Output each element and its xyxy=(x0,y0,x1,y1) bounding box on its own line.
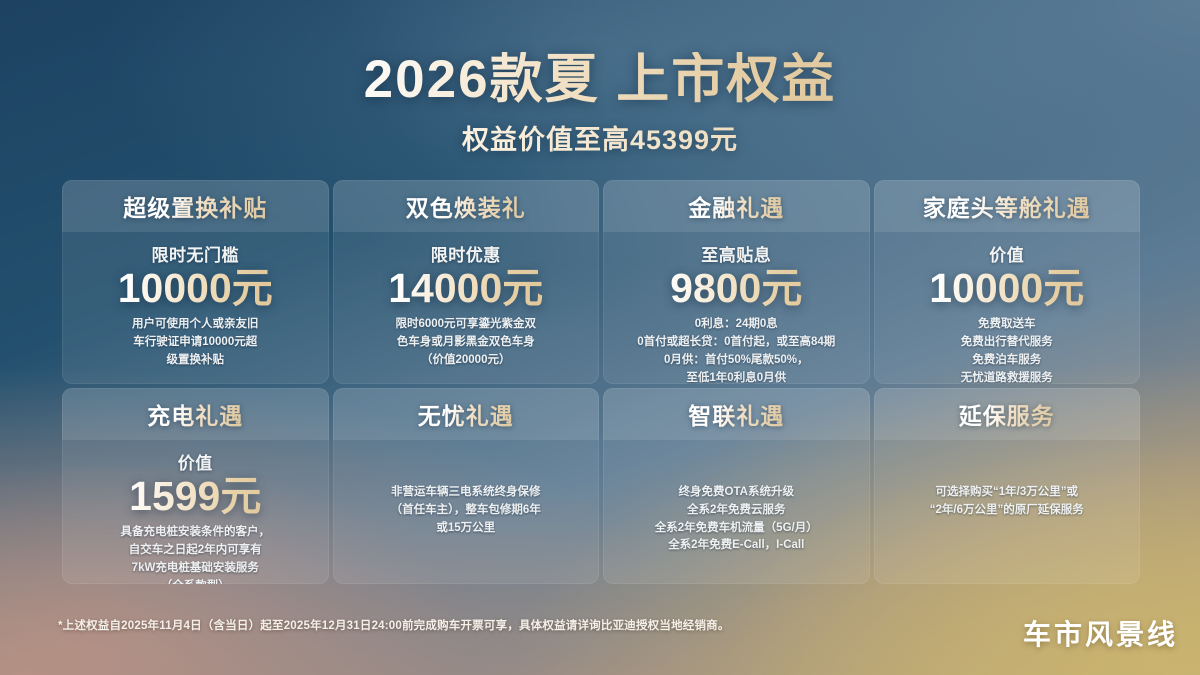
card-amount: 1599元 xyxy=(72,472,319,520)
card-body: 可选择购买“1年/3万公里”或 “2年/6万公里”的原厂延保服务 xyxy=(874,440,1141,520)
card-header: 家庭头等舱礼遇 xyxy=(874,180,1141,232)
benefit-card-family-first-class[interactable]: 家庭头等舱礼遇 价值 10000元 免费取送车 免费出行替代服务 免费泊车服务 … xyxy=(874,180,1141,384)
card-lead: 价值 xyxy=(884,241,1131,266)
card-body: 非营运车辆三电系统终身保修 （首任车主），整车包修期6年 或15万公里 xyxy=(333,440,600,537)
card-title: 充电礼遇 xyxy=(147,397,243,431)
card-description: 非营运车辆三电系统终身保修 （首任车主），整车包修期6年 或15万公里 xyxy=(343,484,590,537)
benefit-card-connectivity[interactable]: 智联礼遇 终身免费OTA系统升级 全系2年免费云服务 全系2年免费车机流量（5G… xyxy=(603,388,870,584)
card-title: 金融礼遇 xyxy=(688,189,784,223)
benefits-grid: 超级置换补贴 限时无门槛 10000元 用户可使用个人或亲友旧 车行驶证申请10… xyxy=(62,180,1140,584)
title-block: 2026款夏 上市权益 权益价值至高45399元 xyxy=(0,52,1200,157)
promo-poster: 2026款夏 上市权益 权益价值至高45399元 超级置换补贴 限时无门槛 10… xyxy=(0,0,1200,675)
card-description: 可选择购买“1年/3万公里”或 “2年/6万公里”的原厂延保服务 xyxy=(884,484,1131,520)
card-body: 限时无门槛 10000元 用户可使用个人或亲友旧 车行驶证申请10000元超 级… xyxy=(62,232,329,370)
card-body: 价值 10000元 免费取送车 免费出行替代服务 免费泊车服务 无忧道路救援服务 xyxy=(874,232,1141,384)
card-amount: 14000元 xyxy=(343,264,590,312)
card-description: 用户可使用个人或亲友旧 车行驶证申请10000元超 级置换补贴 xyxy=(72,316,319,369)
card-lead: 价值 xyxy=(72,449,319,474)
watermark-logo: 车市风景线 xyxy=(1023,613,1178,653)
card-title: 智联礼遇 xyxy=(688,397,784,431)
card-description: 限时6000元可享鎏光紫金双 色车身或月影黑金双色车身 （价值20000元） xyxy=(343,316,590,369)
card-header: 金融礼遇 xyxy=(603,180,870,232)
card-description: 终身免费OTA系统升级 全系2年免费云服务 全系2年免费车机流量（5G/月） 全… xyxy=(613,484,860,555)
card-body: 限时优惠 14000元 限时6000元可享鎏光紫金双 色车身或月影黑金双色车身 … xyxy=(333,232,600,370)
benefit-card-two-tone-paint[interactable]: 双色焕装礼 限时优惠 14000元 限时6000元可享鎏光紫金双 色车身或月影黑… xyxy=(333,180,600,384)
card-header: 超级置换补贴 xyxy=(62,180,329,232)
footnote-disclaimer: *上述权益自2025年11月4日（含当日）起至2025年12月31日24:00前… xyxy=(58,617,938,633)
card-title: 超级置换补贴 xyxy=(123,189,267,223)
benefit-card-financing[interactable]: 金融礼遇 至高贴息 9800元 0利息：24期0息 0首付或超长贷：0首付起，或… xyxy=(603,180,870,384)
card-lead: 限时无门槛 xyxy=(72,241,319,266)
card-amount: 10000元 xyxy=(72,264,319,312)
card-header: 双色焕装礼 xyxy=(333,180,600,232)
page-subtitle: 权益价值至高45399元 xyxy=(0,118,1200,157)
card-description: 0利息：24期0息 0首付或超长贷：0首付起，或至高84期 0月供：首付50%尾… xyxy=(613,316,860,384)
card-title: 延保服务 xyxy=(959,397,1055,431)
card-title: 双色焕装礼 xyxy=(406,189,526,223)
card-amount: 10000元 xyxy=(884,264,1131,312)
card-header: 延保服务 xyxy=(874,388,1141,440)
card-description: 免费取送车 免费出行替代服务 免费泊车服务 无忧道路救援服务 xyxy=(884,316,1131,384)
card-amount: 9800元 xyxy=(613,264,860,312)
benefits-row-2: 充电礼遇 价值 1599元 具备充电桩安装条件的客户， 自交车之日起2年内可享有… xyxy=(62,388,1140,584)
card-header: 充电礼遇 xyxy=(62,388,329,440)
card-header: 无忧礼遇 xyxy=(333,388,600,440)
card-title: 无忧礼遇 xyxy=(418,397,514,431)
benefits-row-1: 超级置换补贴 限时无门槛 10000元 用户可使用个人或亲友旧 车行驶证申请10… xyxy=(62,180,1140,384)
card-body: 终身免费OTA系统升级 全系2年免费云服务 全系2年免费车机流量（5G/月） 全… xyxy=(603,440,870,555)
card-body: 价值 1599元 具备充电桩安装条件的客户， 自交车之日起2年内可享有 7kW充… xyxy=(62,440,329,584)
benefit-card-worry-free-warranty[interactable]: 无忧礼遇 非营运车辆三电系统终身保修 （首任车主），整车包修期6年 或15万公里 xyxy=(333,388,600,584)
page-title: 2026款夏 上市权益 xyxy=(0,52,1200,108)
benefit-card-trade-in-subsidy[interactable]: 超级置换补贴 限时无门槛 10000元 用户可使用个人或亲友旧 车行驶证申请10… xyxy=(62,180,329,384)
card-lead: 限时优惠 xyxy=(343,241,590,266)
card-header: 智联礼遇 xyxy=(603,388,870,440)
card-description: 具备充电桩安装条件的客户， 自交车之日起2年内可享有 7kW充电桩基础安装服务 … xyxy=(72,524,319,584)
card-lead: 至高贴息 xyxy=(613,241,860,266)
card-title: 家庭头等舱礼遇 xyxy=(923,189,1091,223)
benefit-card-charging[interactable]: 充电礼遇 价值 1599元 具备充电桩安装条件的客户， 自交车之日起2年内可享有… xyxy=(62,388,329,584)
benefit-card-extended-warranty[interactable]: 延保服务 可选择购买“1年/3万公里”或 “2年/6万公里”的原厂延保服务 xyxy=(874,388,1141,584)
card-body: 至高贴息 9800元 0利息：24期0息 0首付或超长贷：0首付起，或至高84期… xyxy=(603,232,870,384)
